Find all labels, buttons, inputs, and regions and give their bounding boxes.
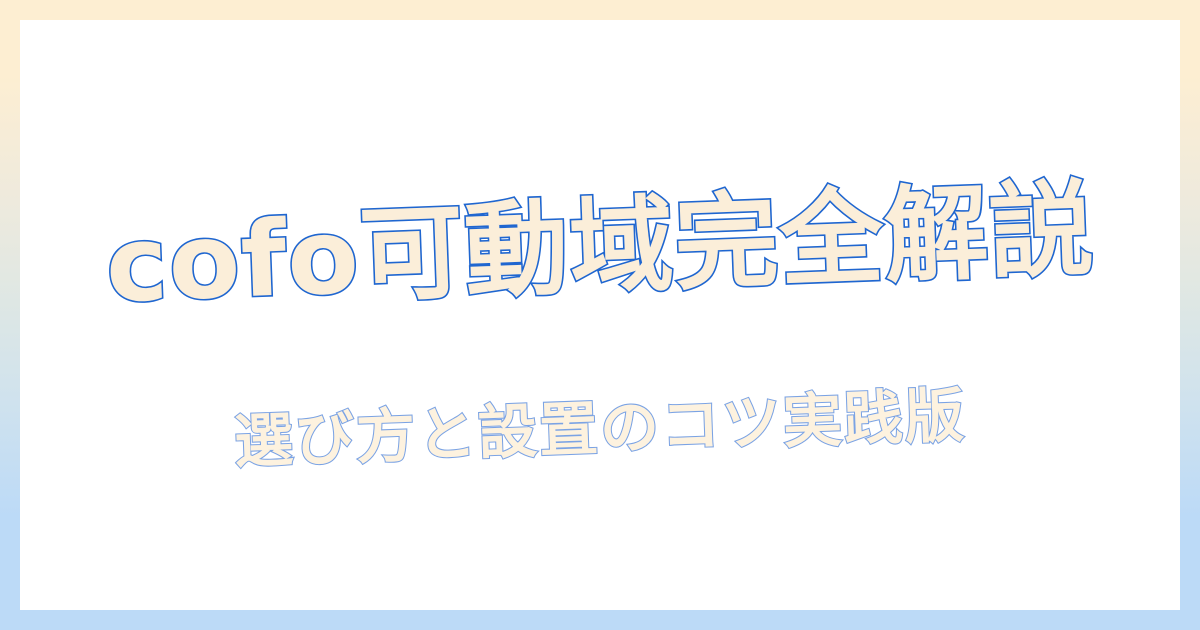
page-title: cofo可動域完全解説 xyxy=(104,168,1097,327)
page-subtitle: 選び方と設置のコツ実践版 xyxy=(233,381,967,479)
headline-stack: cofo可動域完全解説 選び方と設置のコツ実践版 xyxy=(20,20,1180,610)
subtitle-row: 選び方と設置のコツ実践版 xyxy=(19,373,1181,486)
eyecatch-canvas: cofo可動域完全解説 選び方と設置のコツ実践版 xyxy=(0,0,1200,630)
title-row: cofo可動域完全解説 xyxy=(18,165,1182,330)
white-card: cofo可動域完全解説 選び方と設置のコツ実践版 xyxy=(20,20,1180,610)
